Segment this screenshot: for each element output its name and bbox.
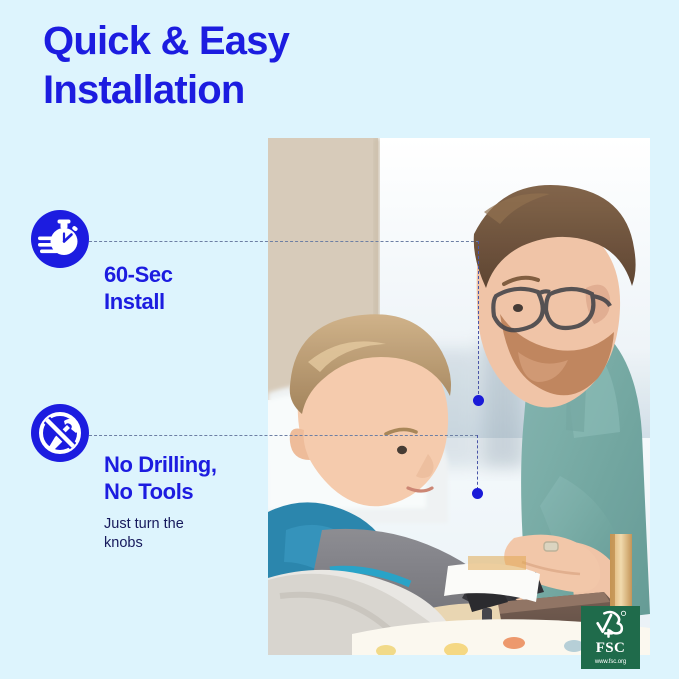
- lifestyle-photo: [268, 138, 650, 655]
- no-tools-icon: [31, 404, 89, 462]
- fsc-wordmark: FSC: [596, 641, 626, 656]
- stopwatch-icon: [31, 210, 89, 268]
- fsc-tree-checkmark-icon: [594, 610, 628, 640]
- feature-2-text: No Drilling, No Tools Just turn the knob…: [104, 452, 217, 553]
- page-title-line-1: Quick & Easy: [43, 17, 373, 66]
- photo-illustration: [268, 138, 650, 655]
- feature-2-subtitle: Just turn the knobs: [104, 515, 217, 554]
- fsc-certification-badge: FSC www.fsc.org: [581, 606, 640, 669]
- feature-1-text: 60-Sec Install: [104, 262, 173, 316]
- page-title: Quick & Easy Installation: [43, 17, 373, 115]
- page-title-line-2: Installation: [43, 66, 373, 115]
- feature-1-title: 60-Sec Install: [104, 262, 173, 316]
- fsc-url: www.fsc.org: [595, 659, 626, 665]
- feature-2-title: No Drilling, No Tools: [104, 452, 217, 506]
- product-feature-infographic: Quick & Easy Installation: [0, 0, 679, 679]
